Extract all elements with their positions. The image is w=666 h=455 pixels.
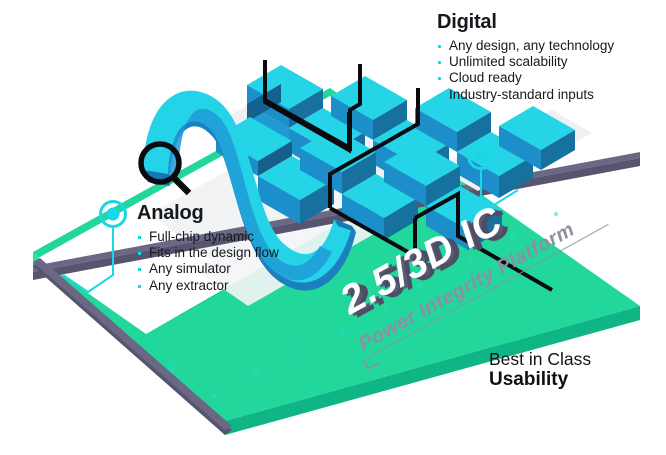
list-item: Full-chip dynamic bbox=[137, 229, 279, 245]
list-item-label: Industry-standard inputs bbox=[449, 87, 594, 102]
bullet-icon bbox=[438, 45, 441, 48]
tagline-block: Best in Class Usability bbox=[489, 349, 591, 391]
list-item-label: Unlimited scalability bbox=[449, 54, 568, 69]
bullet-icon bbox=[438, 94, 441, 97]
list-item: Any design, any technology bbox=[437, 38, 614, 54]
list-item-label: Fits in the design flow bbox=[149, 245, 279, 260]
bullet-icon bbox=[438, 61, 441, 64]
list-item-label: Any design, any technology bbox=[449, 38, 614, 53]
list-item-label: Any extractor bbox=[149, 278, 229, 293]
digital-heading: Digital bbox=[437, 12, 614, 32]
list-item: Industry-standard inputs bbox=[437, 87, 614, 103]
bullet-icon bbox=[138, 236, 141, 239]
tagline-line-2: Usability bbox=[489, 369, 591, 391]
list-item: Any extractor bbox=[137, 278, 279, 294]
list-item: Fits in the design flow bbox=[137, 245, 279, 261]
bullet-icon bbox=[138, 285, 141, 288]
list-item: Unlimited scalability bbox=[437, 54, 614, 70]
list-item-label: Cloud ready bbox=[449, 70, 522, 85]
analog-bullet-list: Full-chip dynamic Fits in the design flo… bbox=[137, 229, 279, 294]
digital-bullet-list: Any design, any technology Unlimited sca… bbox=[437, 38, 614, 103]
analog-text-block: Analog Full-chip dynamic Fits in the des… bbox=[137, 203, 279, 294]
list-item: Any simulator bbox=[137, 261, 279, 277]
list-item-label: Any simulator bbox=[149, 261, 231, 276]
digital-text-block: Digital Any design, any technology Unlim… bbox=[437, 12, 614, 103]
list-item-label: Full-chip dynamic bbox=[149, 229, 254, 244]
bullet-icon bbox=[138, 268, 141, 271]
infographic-canvas: 2.5/3D IC 2.5/3D IC 2.5/3D IC Power Inte… bbox=[0, 0, 666, 455]
tagline-line-1: Best in Class bbox=[489, 349, 591, 369]
list-item: Cloud ready bbox=[437, 70, 614, 86]
bullet-icon bbox=[138, 252, 141, 255]
analog-heading: Analog bbox=[137, 203, 279, 223]
bullet-icon bbox=[438, 77, 441, 80]
